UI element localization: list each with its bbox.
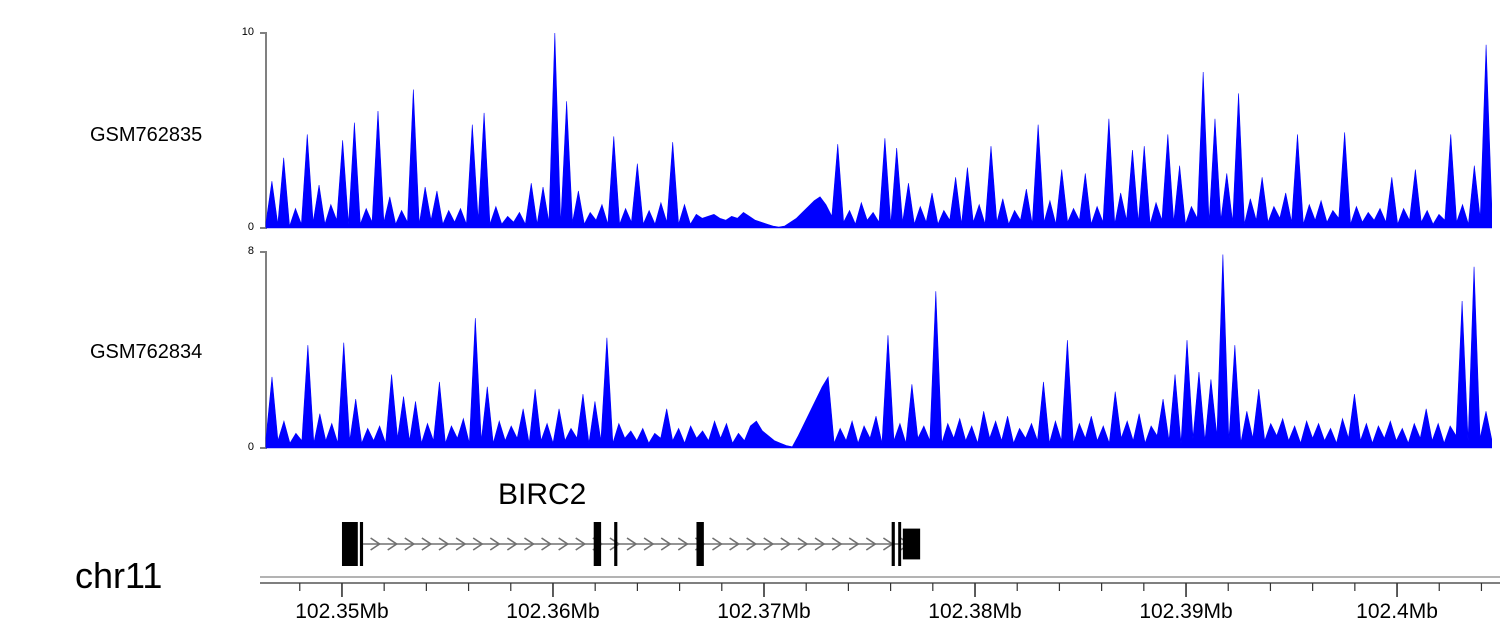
exon-block[interactable] — [696, 522, 703, 566]
genomic-coordinate-ruler[interactable] — [255, 570, 1500, 600]
track2-coverage-area — [266, 254, 1492, 448]
ruler-tick-label: 102.37Mb — [717, 600, 810, 624]
gene-model-birc2[interactable] — [342, 522, 920, 566]
track1-ymin-label: 0 — [226, 221, 254, 233]
track1-coverage-area — [266, 33, 1492, 228]
exon-block[interactable] — [614, 522, 617, 566]
track2-y-axis — [260, 252, 266, 448]
exon-block[interactable] — [594, 522, 601, 566]
coverage-track-gsm762834 — [260, 240, 1492, 480]
track-label-gsm762835: GSM762835 — [90, 124, 202, 147]
exon-block[interactable] — [360, 522, 363, 566]
exon-block[interactable] — [342, 522, 358, 566]
genome-browser-view: GSM762835 GSM762834 10 0 8 0 BIRC2 chr11… — [0, 0, 1500, 640]
exon-block[interactable] — [898, 522, 901, 566]
exon-block[interactable] — [892, 522, 895, 566]
ruler-tick-label: 102.35Mb — [295, 600, 388, 624]
coverage-track-gsm762835 — [260, 20, 1492, 260]
ruler-tick-label: 102.4Mb — [1356, 600, 1438, 624]
track2-ymin-label: 0 — [226, 441, 254, 453]
track-label-gsm762834: GSM762834 — [90, 341, 202, 364]
gene-name-birc2[interactable]: BIRC2 — [498, 478, 586, 512]
exon-block[interactable] — [903, 529, 920, 560]
ruler-tick-label: 102.39Mb — [1139, 600, 1232, 624]
chromosome-label: chr11 — [75, 555, 162, 597]
track1-y-axis — [260, 33, 266, 228]
ruler-tick-label: 102.38Mb — [928, 600, 1021, 624]
gene-model-track — [260, 508, 1500, 578]
track2-ymax-label: 8 — [226, 245, 254, 257]
track1-ymax-label: 10 — [226, 26, 254, 38]
ruler-tick-label: 102.36Mb — [506, 600, 599, 624]
